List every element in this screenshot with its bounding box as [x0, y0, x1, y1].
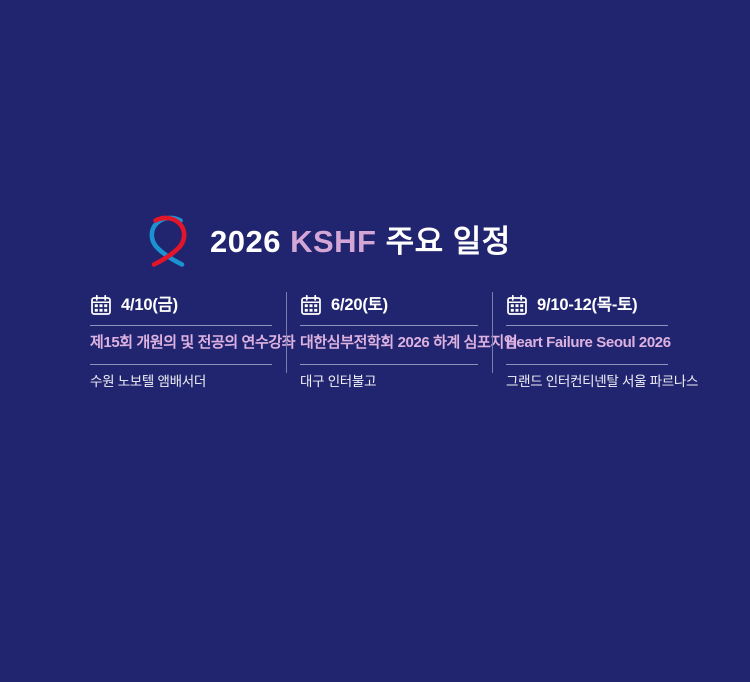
schedule-card-date-row: 6/20(토): [300, 290, 478, 320]
schedule-card-venue: 대구 인터불고: [300, 365, 478, 389]
schedule-list: 4/10(금) 제15회 개원의 및 전공의 연수강좌 수원 노보텔 앰배서더: [90, 290, 682, 389]
schedule-card-3[interactable]: 9/10-12(목-토) Heart Failure Seoul 2026 그랜…: [492, 290, 682, 389]
heart-ribbon-logo: [136, 214, 198, 270]
schedule-card-date: 4/10(금): [121, 297, 178, 314]
schedule-card-date: 6/20(토): [331, 297, 388, 314]
schedule-card-venue: 그랜드 인터컨티넨탈 서울 파르나스: [506, 365, 668, 389]
card-separator: [492, 292, 493, 373]
schedule-card-title: Heart Failure Seoul 2026: [506, 326, 668, 359]
calendar-icon: [90, 294, 112, 316]
schedule-card-date-row: 4/10(금): [90, 290, 272, 320]
calendar-icon: [506, 294, 528, 316]
page-title: 2026 KSHF 주요 일정: [210, 226, 511, 259]
schedule-card-2[interactable]: 6/20(토) 대한심부전학회 2026 하계 심포지엄 대구 인터불고: [286, 290, 492, 389]
page-title-suffix: 주요 일정: [376, 224, 510, 259]
schedule-card-date: 9/10-12(목-토): [537, 297, 637, 314]
card-separator: [286, 292, 287, 373]
page-title-block: 2026 KSHF 주요 일정: [136, 212, 511, 272]
schedule-card-title: 제15회 개원의 및 전공의 연수강좌: [90, 326, 272, 359]
schedule-card-1[interactable]: 4/10(금) 제15회 개원의 및 전공의 연수강좌 수원 노보텔 앰배서더: [90, 290, 286, 389]
schedule-card-date-row: 9/10-12(목-토): [506, 290, 668, 320]
schedule-card-title: 대한심부전학회 2026 하계 심포지엄: [300, 326, 478, 359]
page-root: 2026 KSHF 주요 일정: [0, 0, 750, 682]
page-title-brand: KSHF: [290, 224, 376, 259]
calendar-icon: [300, 294, 322, 316]
page-title-year: 2026: [210, 224, 290, 259]
schedule-card-venue: 수원 노보텔 앰배서더: [90, 365, 272, 389]
